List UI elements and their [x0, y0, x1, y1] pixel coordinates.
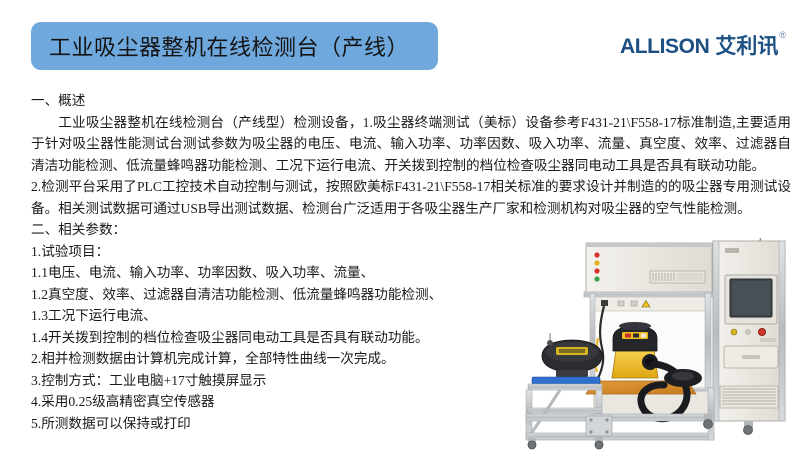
brand-logo: ALLISON 艾利讯 ®: [620, 36, 786, 57]
registered-trademark-icon: ®: [779, 31, 786, 40]
section-heading-two: 二、相关参数：: [31, 219, 791, 241]
param-line: 5.所测数据可以保持或打印: [31, 413, 531, 435]
overview-paragraph-1: 工业吸尘器整机在线检测台（产线型）检测设备，1.吸尘器终端测试（美标）设备参考F…: [31, 112, 791, 177]
param-line: 3.控制方式：工业电脑+17寸触摸屏显示: [31, 370, 531, 392]
param-line: 1.2真空度、效率、过滤器自清洁功能检测、低流量蜂鸣器功能检测、: [31, 284, 561, 306]
param-line: 4.采用0.25级高精密真空传感器: [31, 391, 531, 413]
page-title: 工业吸尘器整机在线检测台（产线）: [49, 30, 409, 62]
param-line: 1.试验项目：: [31, 241, 531, 263]
title-banner: 工业吸尘器整机在线检测台（产线）: [31, 22, 438, 70]
logo-chinese-text: 艾利讯: [715, 36, 778, 57]
page-header: 工业吸尘器整机在线检测台（产线） ALLISON 艾利讯 ®: [0, 0, 800, 88]
logo-latin-text: ALLISON: [620, 36, 709, 57]
param-line: 2.相并检测数据由计算机完成计算，全部特性曲线一次完成。: [31, 348, 561, 370]
overview-paragraph-2: 2.检测平台采用了PLC工控技术自动控制与测试，按照欧美标F431-21\F55…: [31, 176, 791, 219]
param-line: 1.4开关拨到控制的档位检查吸尘器同电动工具是否具有联动功能。: [31, 327, 561, 349]
param-line: 1.3工况下运行电流、: [31, 305, 531, 327]
param-line: 1.1电压、电流、输入功率、功率因数、吸入功率、流量、: [31, 262, 561, 284]
section-heading-one: 一、概述: [31, 90, 791, 112]
document-body: 一、概述 工业吸尘器整机在线检测台（产线型）检测设备，1.吸尘器终端测试（美标）…: [31, 90, 791, 434]
